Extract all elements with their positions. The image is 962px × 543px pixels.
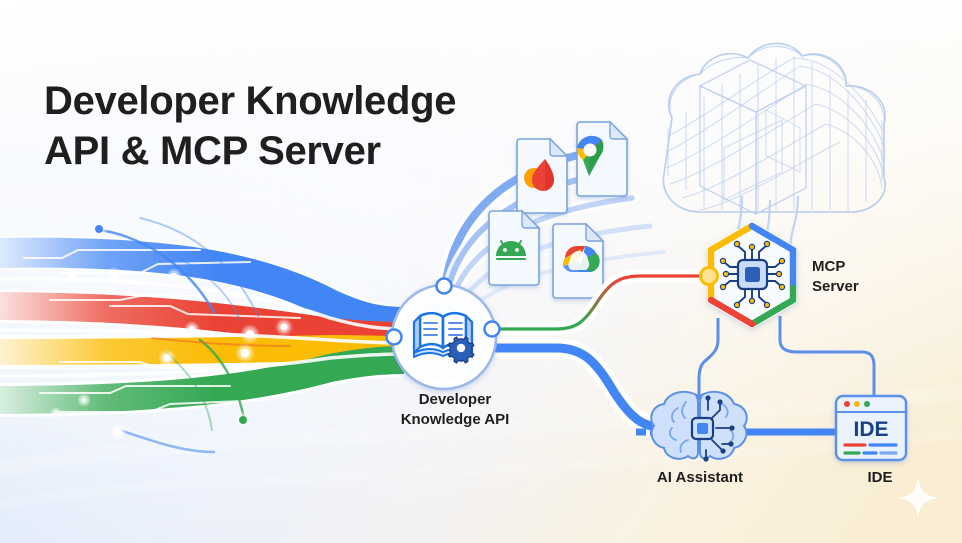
google-cloud-doc-card[interactable] [553,224,603,298]
android-doc-card[interactable] [489,211,539,285]
developer-knowledge-api-label: Developer Knowledge API [330,390,580,431]
ide-label: IDE [820,468,940,488]
mcp-port-left [701,268,718,285]
google-maps-doc-card[interactable] [577,122,627,196]
window-dot-red [844,401,850,407]
api-node-port-left [387,330,402,345]
window-dot-yellow [854,401,860,407]
ide-screen-text: IDE [853,418,888,441]
page-title: Developer Knowledge API & MCP Server [44,76,456,176]
wireframe-cloud [663,43,885,252]
api-node-port-right [485,322,500,337]
yellow-stream [0,348,404,352]
mcp-server-node[interactable] [701,226,794,324]
ai-assistant-label: AI Assistant [620,468,780,488]
window-dot-green [864,401,870,407]
brain-circuit-icon [651,392,747,462]
api-node-port-top [437,279,452,294]
firebase-doc-card[interactable] [517,139,567,213]
ide-window-icon: IDE [836,396,906,460]
ide-node[interactable]: IDE [836,396,906,460]
illustration-canvas: IDE Developer Knowledge API & MCP Server… [0,0,962,543]
ai-assistant-node[interactable] [651,392,747,462]
mcp-server-label: MCP Server [812,257,942,298]
